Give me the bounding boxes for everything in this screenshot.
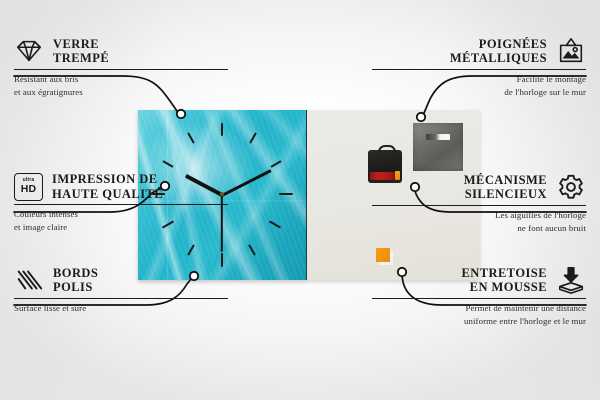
hanger-slot [426, 134, 450, 140]
callout-mecanisme-silencieux: MÉCANISME SILENCIEUX Les aiguilles de l'… [372, 172, 586, 234]
metal-hanger-plate [413, 123, 463, 171]
foam-spacer-arrow-icon [556, 265, 586, 295]
callout-title: BORDS POLIS [53, 266, 98, 295]
callout-impression-haute-qualite: ultra HD IMPRESSION DE HAUTE QUALITÉ Cou… [14, 172, 228, 233]
callout-subtitle: Permet de maintenir une distance uniform… [372, 299, 586, 327]
callout-subtitle: Facilite le montage de l'horloge sur le … [372, 70, 586, 98]
callout-entretoise-en-mousse: ENTRETOISE EN MOUSSE Permet de maintenir… [372, 265, 586, 327]
gear-icon [556, 172, 586, 202]
callout-bords-polis: BORDS POLIS Surface lisse et sûre [14, 265, 228, 315]
callout-title: MÉCANISME SILENCIEUX [464, 173, 547, 202]
callout-title: VERRE TREMPÉ [53, 37, 109, 66]
callout-header: BORDS POLIS [14, 265, 228, 298]
callout-header: VERRE TREMPÉ [14, 36, 228, 69]
callout-verre-trempe: VERRE TREMPÉ Résistant aux bris et aux é… [14, 36, 228, 98]
polished-edges-icon [14, 265, 44, 295]
mechanism-hanging-loop [378, 145, 396, 154]
infographic-canvas: VERRE TREMPÉ Résistant aux bris et aux é… [0, 0, 600, 400]
ultra-hd-badge-icon: ultra HD [14, 173, 43, 201]
callout-subtitle: Les aiguilles de l'horloge ne font aucun… [372, 206, 586, 234]
callout-header: ultra HD IMPRESSION DE HAUTE QUALITÉ [14, 172, 228, 204]
framed-picture-hanging-icon [556, 36, 586, 66]
callout-header: POIGNÉES MÉTALLIQUES [372, 36, 586, 69]
callout-header: ENTRETOISE EN MOUSSE [372, 265, 586, 298]
callout-subtitle: Couleurs intenses et image claire [14, 205, 228, 233]
callout-title: IMPRESSION DE HAUTE QUALITÉ [52, 172, 163, 201]
callout-title: ENTRETOISE EN MOUSSE [461, 266, 547, 295]
clock-tick [221, 123, 223, 136]
callout-title: POIGNÉES MÉTALLIQUES [450, 37, 547, 66]
ultra-hd-badge-bottom-text: HD [21, 184, 37, 195]
diamond-icon [14, 36, 44, 66]
callout-subtitle: Surface lisse et sûre [14, 299, 228, 314]
foam-spacer [376, 248, 390, 262]
callout-poignees-metalliques: POIGNÉES MÉTALLIQUES Facilite le montage… [372, 36, 586, 98]
callout-header: MÉCANISME SILENCIEUX [372, 172, 586, 205]
callout-subtitle: Résistant aux bris et aux égratignures [14, 70, 228, 98]
